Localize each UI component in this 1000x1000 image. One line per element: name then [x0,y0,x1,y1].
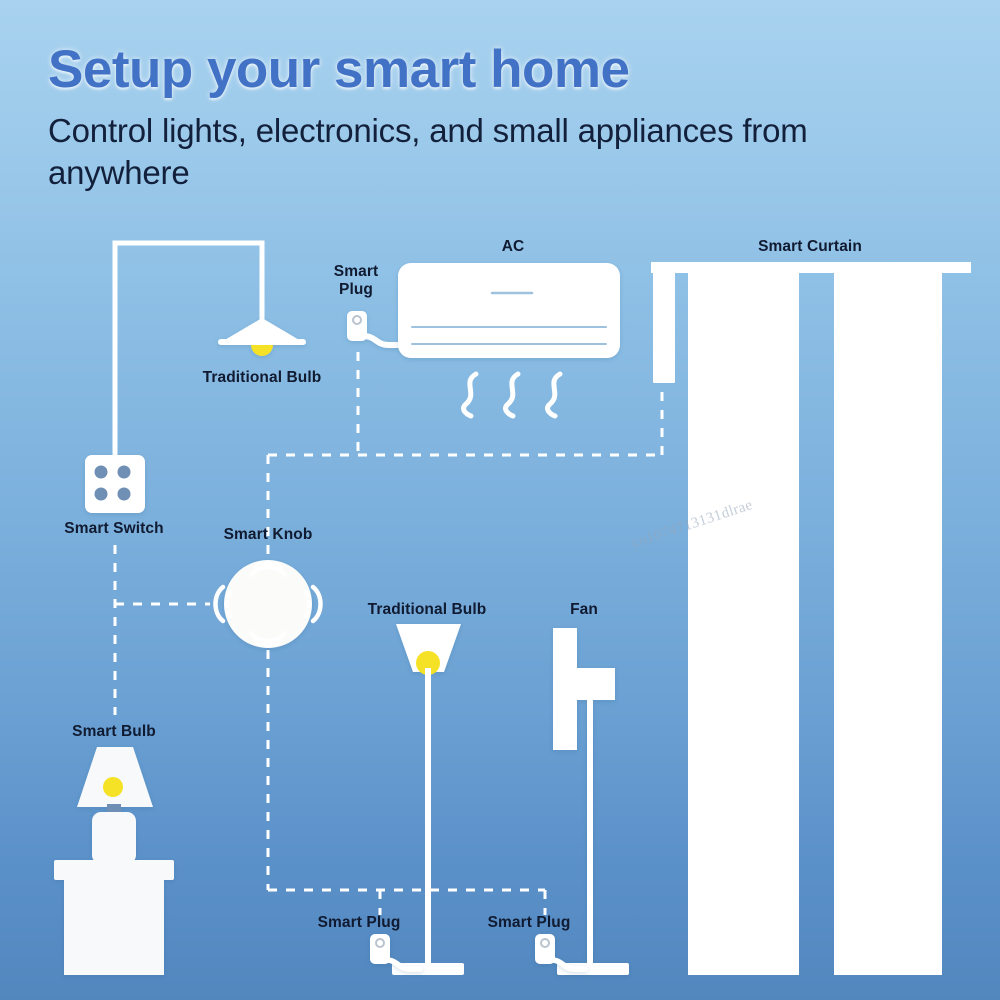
smart-plug-ac-cord [363,336,398,345]
label-smart-bulb: Smart Bulb [72,723,156,741]
label-fan: Fan [570,601,598,619]
curtain-rod [651,262,971,273]
curtain-motor-track [653,269,675,383]
label-smart-plug-ac-line1: Smart [334,263,378,281]
smart-curtain [651,262,971,975]
smart-home-diagram [0,0,1000,1000]
label-smart-curtain: Smart Curtain [758,238,862,256]
smart-switch-dot-3-icon [95,488,108,501]
label-smart-plug-ac-line2: Plug [334,281,378,299]
label-ac: AC [502,238,525,256]
label-smart-switch: Smart Switch [64,520,163,538]
table-lamp-bulb-glow-icon [103,777,123,797]
label-smart-plug-fan: Smart Plug [488,914,571,932]
smart-switch-dot-2-icon [118,466,131,479]
table-body [64,878,164,975]
pendant-shade-rim [218,339,306,345]
smart-switch [85,455,145,513]
smart-switch-dot-1-icon [95,466,108,479]
label-traditional-bulb-floor: Traditional Bulb [368,601,487,619]
label-smart-knob: Smart Knob [224,526,313,544]
table-lamp-neck [107,804,121,812]
smart-knob-body [224,560,312,648]
smart-knob [216,560,321,648]
table-top [54,860,174,880]
table-lamp-stem [92,812,136,864]
table-lamp-shade [77,747,153,807]
wire-switch-to-ceiling-lamp [115,243,262,460]
curtain-panel-right [834,273,942,975]
table-lamp [54,747,174,975]
smart-switch-dot-4-icon [118,488,131,501]
infographic-canvas: Setup your smart home Control lights, el… [0,0,1000,1000]
smart-plug-ac [347,311,398,345]
smart-knob-signal-right-icon [305,587,321,621]
fan-pole [587,690,593,970]
label-smart-plug-ac: Smart Plug [334,263,378,300]
fan-arm [573,668,615,700]
label-traditional-bulb-ceiling: Traditional Bulb [203,369,322,387]
ac-airflow-icon [463,374,560,416]
pendant-lamp [218,318,306,356]
floor-lamp [392,624,464,975]
label-smart-plug-lamp: Smart Plug [318,914,401,932]
curtain-panel-left [688,273,799,975]
wireless-connector-group [115,352,662,915]
smart-knob-signal-left-icon [216,587,232,621]
ac-unit [398,263,620,416]
floor-lamp-pole [425,668,431,970]
smart-switch-plate [85,455,145,513]
